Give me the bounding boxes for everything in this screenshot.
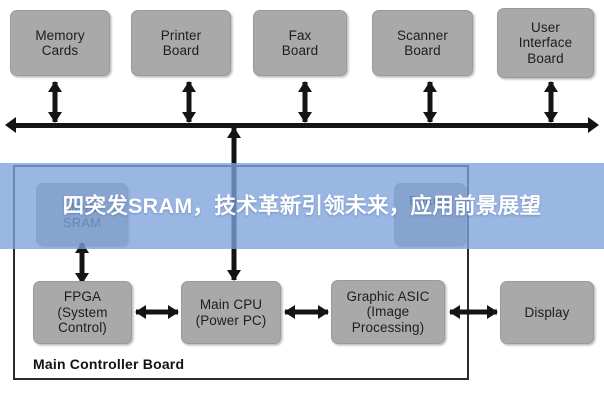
block-fpga-system-control: FPGA (System Control) — [33, 281, 132, 344]
arrow-head-up — [48, 81, 62, 92]
arrow-head-right — [487, 305, 498, 319]
block-main-cpu: Main CPU (Power PC) — [181, 281, 281, 344]
block-graphic-asic: Graphic ASIC (Image Processing) — [331, 280, 445, 344]
arrow-head-up — [544, 81, 558, 92]
arrow-head-down — [48, 112, 62, 123]
block-display: Display — [500, 281, 594, 344]
block-memory-cards: Memory Cards — [10, 10, 110, 76]
arrow-memory-cards-to-bus — [47, 82, 63, 122]
arrow-head-up — [227, 127, 241, 138]
diagram-screenshot: Memory Cards Printer Board Fax Board Sca… — [0, 0, 604, 400]
arrow-head-left — [284, 305, 295, 319]
system-bus-line — [16, 123, 588, 128]
block-fax-board: Fax Board — [253, 10, 347, 76]
arrow-head-up — [182, 81, 196, 92]
arrow-head-left — [449, 305, 460, 319]
arrow-head-up — [298, 81, 312, 92]
block-user-interface-board: User Interface Board — [497, 8, 594, 78]
arrow-head-right — [318, 305, 329, 319]
system-bus-arrow-right — [588, 117, 599, 133]
arrow-main-cpu-to-graphic-asic — [285, 304, 328, 320]
arrow-head-right — [168, 305, 179, 319]
arrow-head-down — [298, 112, 312, 123]
arrow-head-up — [423, 81, 437, 92]
arrow-mobl-sram-to-fpga — [74, 243, 90, 283]
arrow-printer-board-to-bus — [181, 82, 197, 122]
main-controller-board-label: Main Controller Board — [33, 356, 184, 372]
block-scanner-board: Scanner Board — [372, 10, 473, 76]
block-printer-board: Printer Board — [131, 10, 231, 76]
arrow-fpga-to-main-cpu — [136, 304, 178, 320]
arrow-scanner-board-to-bus — [422, 82, 438, 122]
arrow-head-down — [544, 112, 558, 123]
arrow-graphic-asic-to-display — [450, 304, 497, 320]
title-banner-overlay: 四突发SRAM，技术革新引领未来，应用前景展望 — [0, 163, 604, 249]
arrow-head-down — [182, 112, 196, 123]
arrow-user-interface-board-to-bus — [543, 82, 559, 122]
title-banner-text: 四突发SRAM，技术革新引领未来，应用前景展望 — [63, 191, 542, 221]
system-bus-arrow-left — [5, 117, 16, 133]
arrow-head-down — [423, 112, 437, 123]
arrow-head-left — [135, 305, 146, 319]
arrow-fax-board-to-bus — [297, 82, 313, 122]
